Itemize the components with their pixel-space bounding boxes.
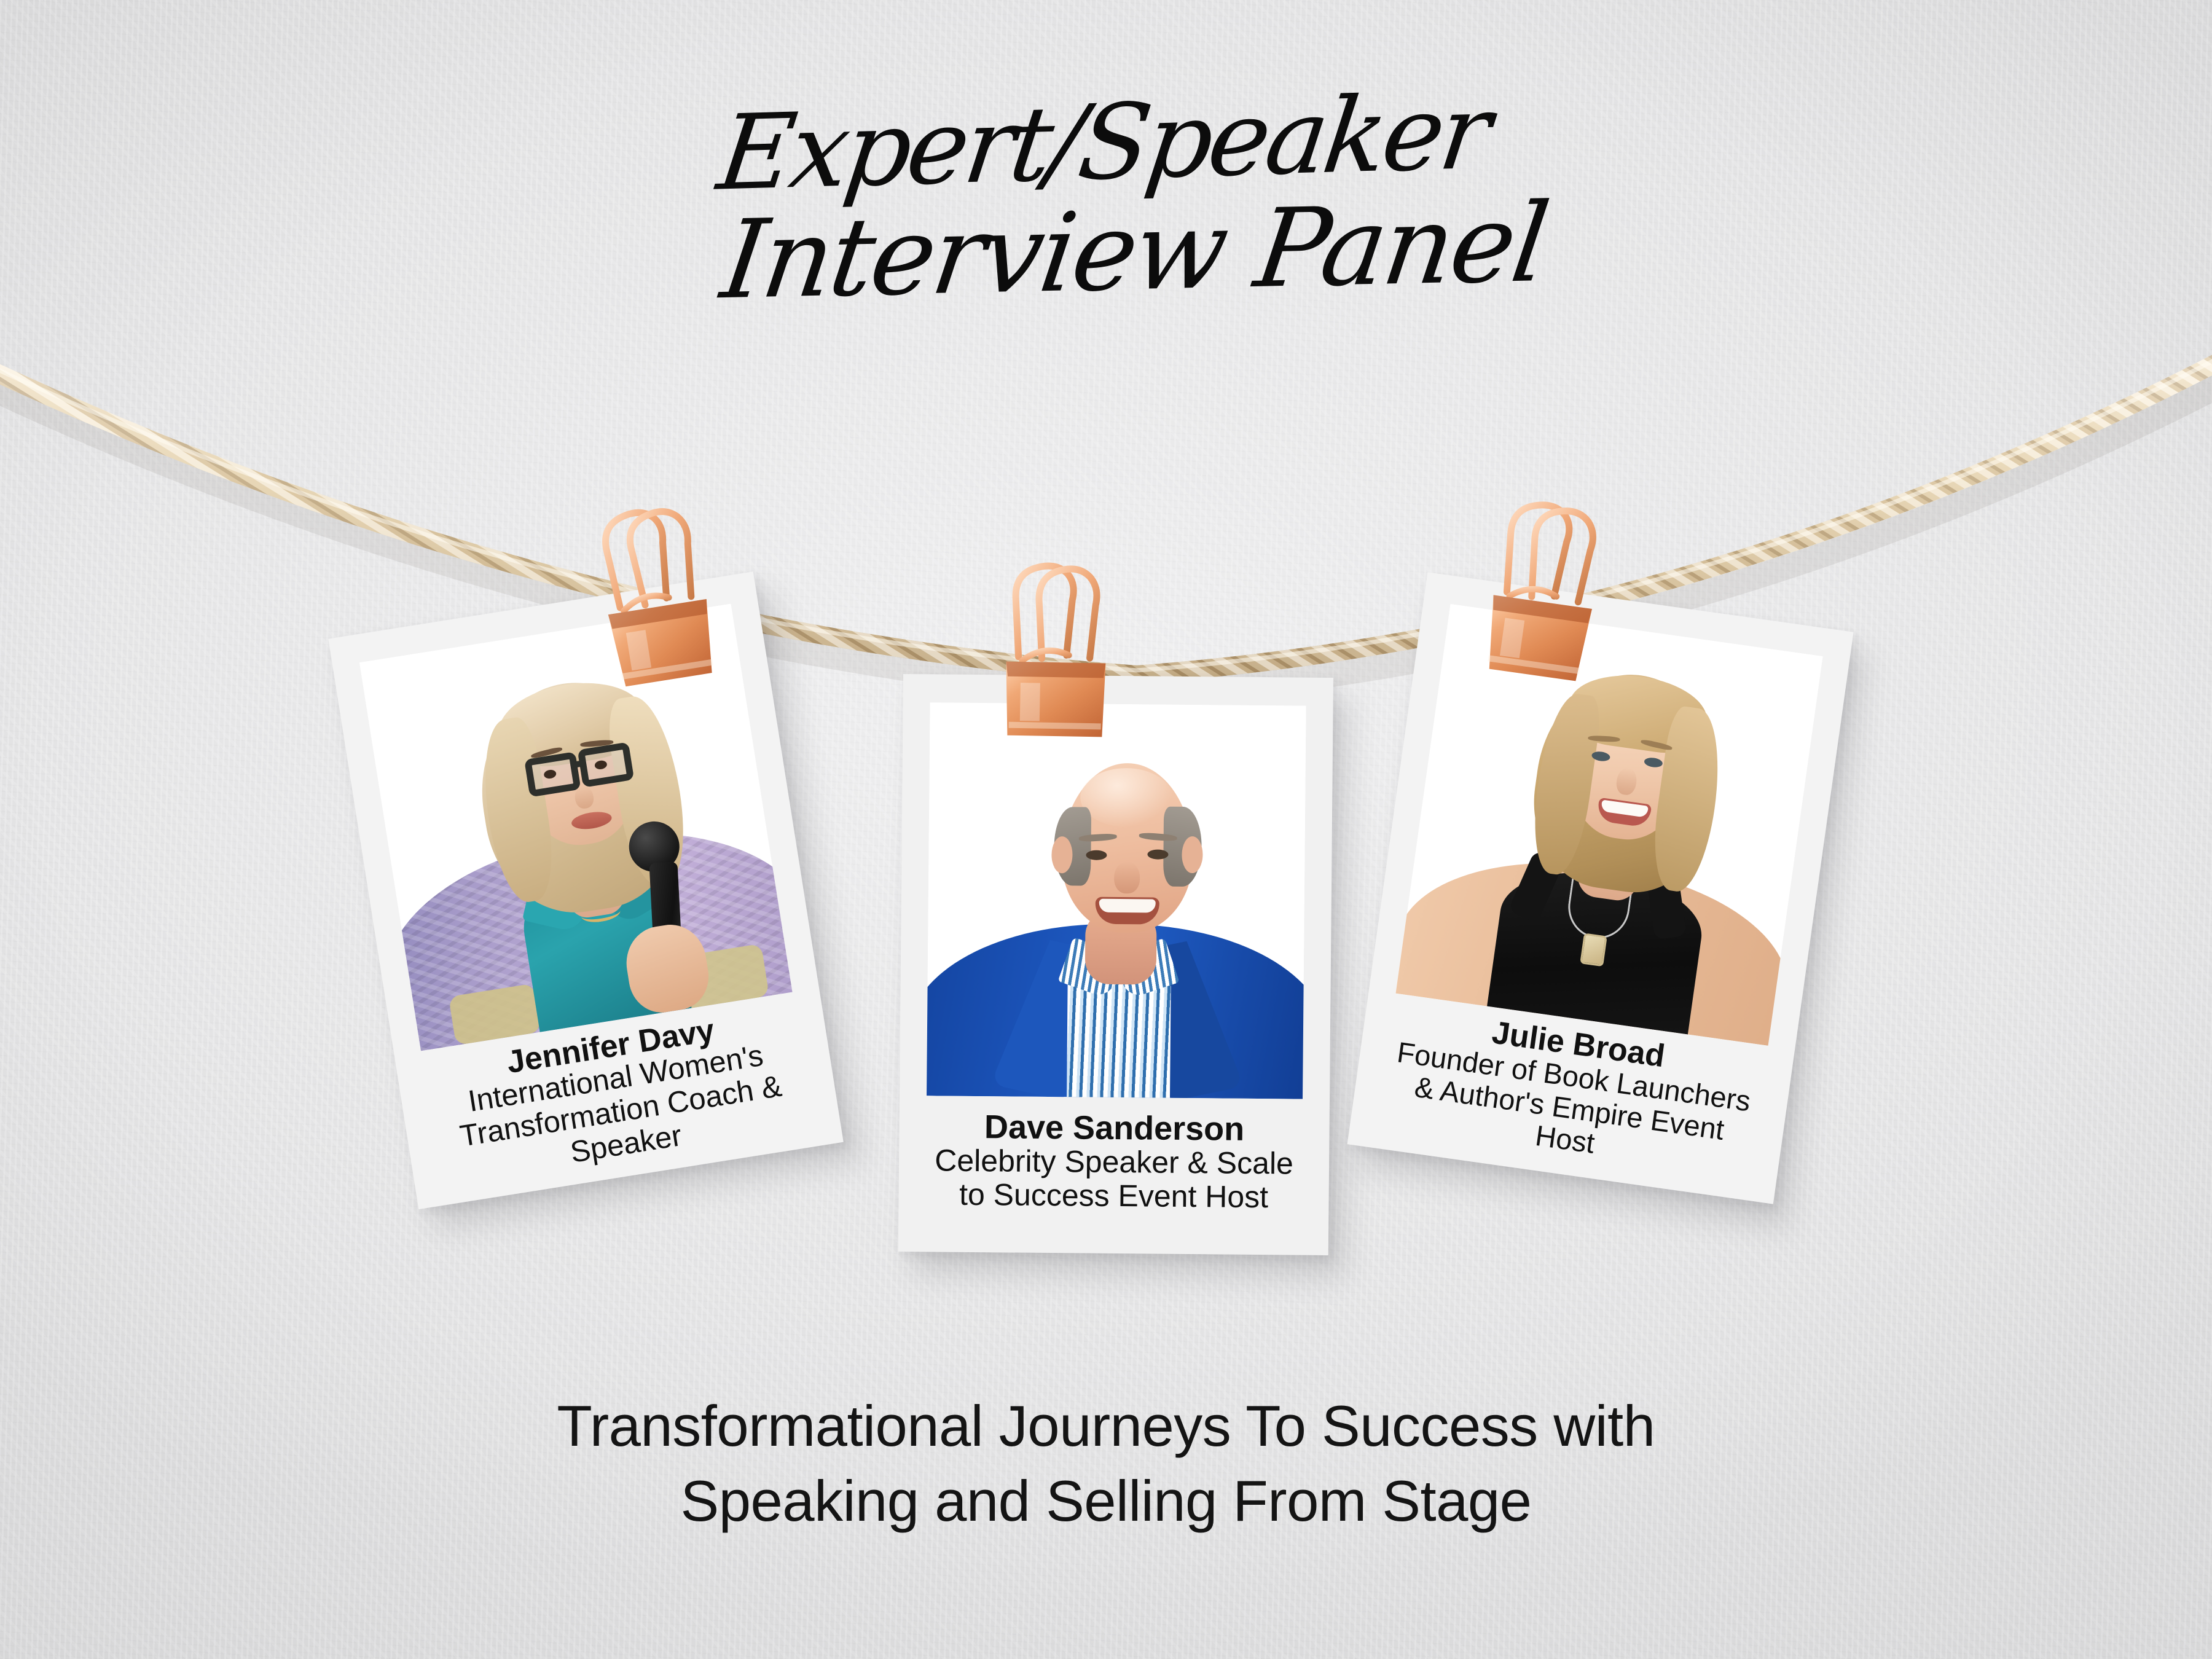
bald-highlight xyxy=(1080,767,1173,827)
polaroid-frame: Jennifer Davy International Women's Tran… xyxy=(328,571,843,1209)
mouth xyxy=(1095,897,1159,925)
teeth xyxy=(1099,899,1156,913)
photo-caption: Dave Sanderson Celebrity Speaker & Scale… xyxy=(925,1096,1303,1214)
eye-left xyxy=(1086,850,1107,860)
card-jennifer-davy[interactable]: Jennifer Davy International Women's Tran… xyxy=(328,571,843,1209)
binder-clip-icon xyxy=(981,539,1126,745)
polaroid-frame: Dave Sanderson Celebrity Speaker & Scale… xyxy=(898,674,1333,1255)
portrait-julie-broad xyxy=(1396,604,1823,1046)
portrait-dave-sanderson xyxy=(927,702,1306,1099)
subtitle-line-2: Speaking and Selling From Stage xyxy=(0,1464,2212,1539)
binder-clip-icon xyxy=(1462,472,1630,692)
subtitle-line-1: Transformational Journeys To Success wit… xyxy=(0,1389,2212,1464)
speaker-role-line1: Celebrity Speaker & Scale xyxy=(932,1144,1296,1181)
page-title: Expert/Speaker Interview Panel xyxy=(0,92,2212,305)
speaker-name: Dave Sanderson xyxy=(932,1109,1296,1147)
speaker-role-line2: to Success Event Host xyxy=(931,1178,1295,1215)
necklace-pendant xyxy=(1580,933,1607,967)
speaker-photo xyxy=(927,702,1306,1099)
card-dave-sanderson[interactable]: Dave Sanderson Celebrity Speaker & Scale… xyxy=(898,674,1333,1255)
subtitle: Transformational Journeys To Success wit… xyxy=(0,1389,2212,1539)
nose xyxy=(1114,861,1140,893)
ear-right xyxy=(1182,836,1203,873)
eye-right xyxy=(1147,849,1168,859)
binder-clip-3[interactable] xyxy=(1461,472,1630,696)
speaker-photo xyxy=(1396,604,1823,1046)
binder-clip-2[interactable] xyxy=(981,539,1126,748)
